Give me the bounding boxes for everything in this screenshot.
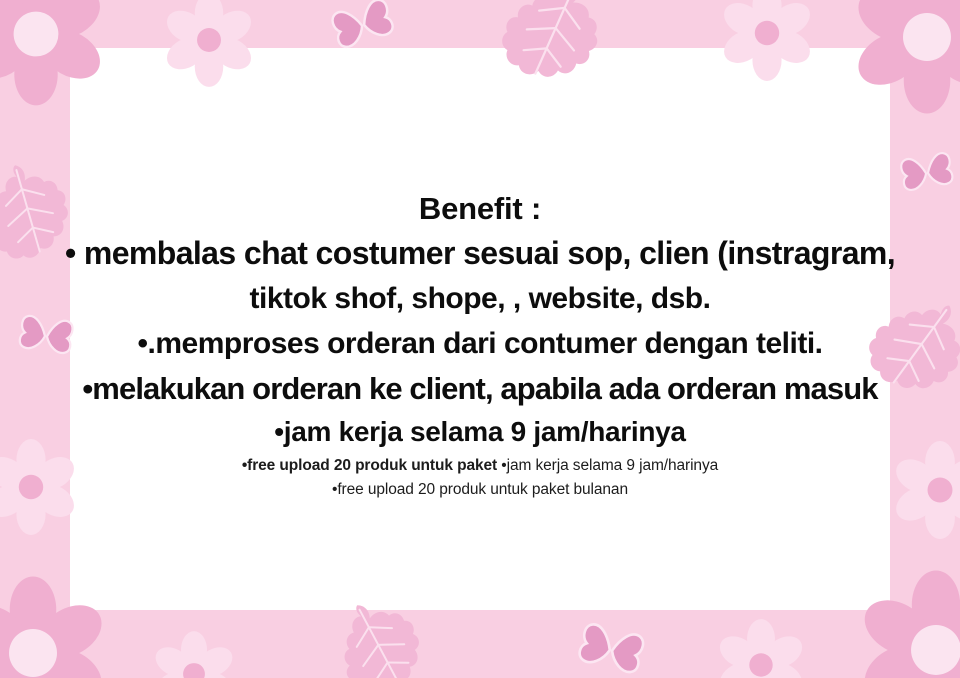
bullet-line-4: •melakukan orderan ke client, apabila ad…: [0, 366, 960, 411]
frame-band-bottom: [0, 610, 960, 678]
benefit-text-block: Benefit : • membalas chat costumer sesua…: [0, 186, 960, 502]
bullet-line-6: •free upload 20 produk untuk paket •jam …: [0, 453, 960, 478]
frame-band-top: [0, 0, 960, 48]
page-title: Benefit :: [0, 186, 960, 231]
bullet-line-1: • membalas chat costumer sesuai sop, cli…: [0, 231, 960, 276]
bullet-line-7: •free upload 20 produk untuk paket bulan…: [0, 478, 960, 502]
bullet-line-2: tiktok shof, shope, , website, dsb.: [0, 276, 960, 321]
bullet-line-5: •jam kerja selama 9 jam/harinya: [0, 411, 960, 453]
slide-canvas: Benefit : • membalas chat costumer sesua…: [0, 0, 960, 678]
bullet-line-6-regular: •jam kerja selama 9 jam/harinya: [501, 457, 718, 474]
bullet-line-3: •.memproses orderan dari contumer dengan…: [0, 321, 960, 366]
bullet-line-6-bold: •free upload 20 produk untuk paket: [242, 457, 501, 474]
